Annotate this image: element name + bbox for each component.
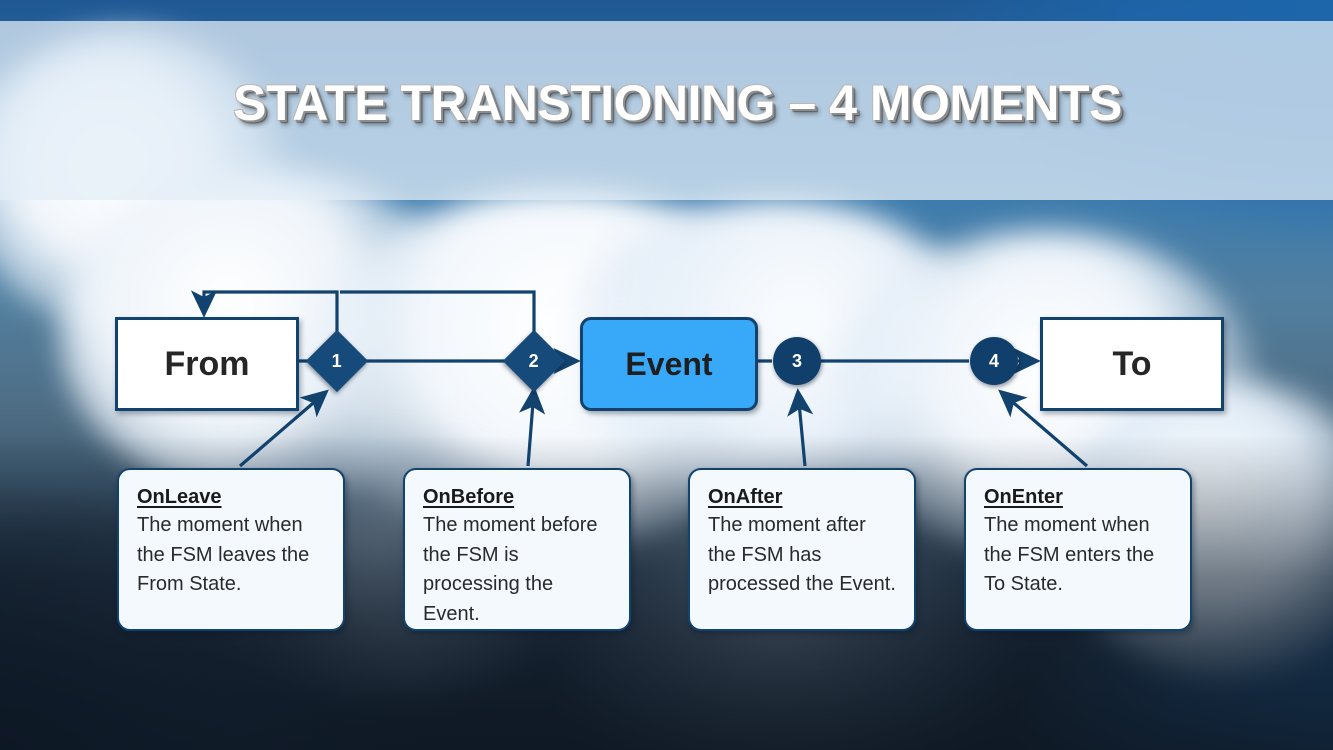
moment-node-2-label: 2 (529, 350, 539, 371)
callout-onleave-title: OnLeave (137, 486, 325, 509)
callout-onenter[interactable]: OnEnter The moment when the FSM enters t… (964, 468, 1192, 631)
callout-onenter-title: OnEnter (984, 486, 1172, 509)
slide: STATE TRANSTIONING – 4 MOMENTS (0, 0, 1333, 750)
state-box-event[interactable]: Event (580, 317, 758, 411)
moment-node-3[interactable]: 3 (773, 337, 821, 385)
callout-onleave[interactable]: OnLeave The moment when the FSM leaves t… (117, 468, 345, 631)
callout-onbefore-title: OnBefore (423, 486, 611, 509)
moment-node-4[interactable]: 4 (970, 337, 1018, 385)
state-box-to[interactable]: To (1040, 317, 1224, 411)
state-box-from[interactable]: From (115, 317, 299, 411)
moment-node-4-label: 4 (989, 351, 999, 372)
moment-node-3-label: 3 (792, 351, 802, 372)
callout-onbefore[interactable]: OnBefore The moment before the FSM is pr… (403, 468, 631, 631)
callout-onbefore-body: The moment before the FSM is processing … (423, 511, 611, 629)
callout-onafter-body: The moment after the FSM has processed t… (708, 511, 896, 600)
callout-onafter-title: OnAfter (708, 486, 896, 509)
moment-node-1-label: 1 (332, 350, 342, 371)
callout-onleave-body: The moment when the FSM leaves the From … (137, 511, 325, 600)
callout-onenter-body: The moment when the FSM enters the To St… (984, 511, 1172, 600)
callout-onafter[interactable]: OnAfter The moment after the FSM has pro… (688, 468, 916, 631)
